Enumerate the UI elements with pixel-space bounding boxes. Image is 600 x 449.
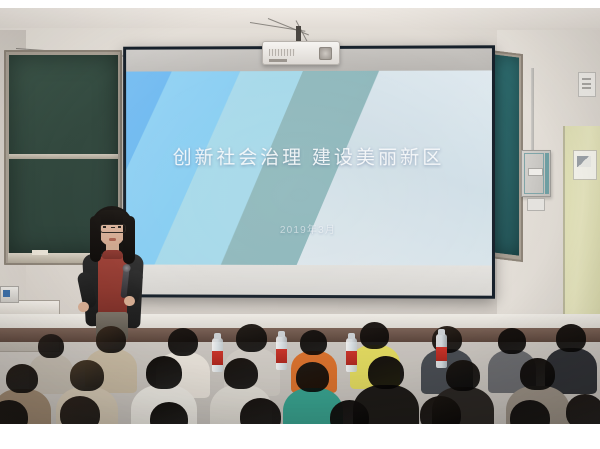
bottle-label xyxy=(212,351,223,365)
projector-vent xyxy=(269,49,295,56)
audience-member-head xyxy=(368,356,404,389)
audience-member-head xyxy=(96,326,126,353)
wall-notice-sign xyxy=(578,72,596,97)
ceiling-projector xyxy=(262,41,340,65)
bottle-cap xyxy=(438,329,445,335)
water-bottle xyxy=(276,336,287,370)
projector-lens-icon xyxy=(319,47,332,60)
presenter-hair-right xyxy=(123,216,135,264)
projector-label xyxy=(269,59,287,62)
chalkboard-divider xyxy=(9,154,118,159)
bottle-cap xyxy=(214,333,221,339)
audience-member-head xyxy=(38,334,64,358)
audience-member-head xyxy=(556,324,586,352)
water-bottle xyxy=(436,334,447,368)
audience-member-head xyxy=(146,356,182,389)
audience-member-head xyxy=(168,328,198,356)
bottle-label xyxy=(346,351,357,365)
presenter-mouth xyxy=(109,238,116,241)
projection-screen: 创新社会治理 建设美丽新区 2019年3月 xyxy=(123,45,495,298)
bottle-label xyxy=(436,347,447,361)
presenter-hair-left xyxy=(90,216,101,262)
audience-member-head xyxy=(360,322,389,349)
audience-member-head xyxy=(6,364,38,393)
audience-member-head xyxy=(240,398,281,424)
audience-member-head xyxy=(296,362,329,392)
audience-member-head xyxy=(566,394,600,424)
electrical-panel-box xyxy=(521,150,551,197)
water-bottle xyxy=(212,338,223,372)
electrical-conduit xyxy=(531,68,534,152)
audience-member-head xyxy=(300,330,327,355)
classroom-door[interactable] xyxy=(563,126,600,331)
screen-bottom-strip xyxy=(126,264,492,295)
lecture-photo: 创新社会治理 建设美丽新区 2019年3月 xyxy=(0,8,600,424)
audience xyxy=(0,308,600,424)
presenter-hand-right xyxy=(124,296,135,306)
bottle-cap xyxy=(348,333,355,339)
bottle-cap xyxy=(278,331,285,337)
presentation-slide: 创新社会治理 建设美丽新区 2019年3月 xyxy=(126,70,492,265)
door-poster xyxy=(573,150,597,180)
audience-member-head xyxy=(520,358,555,390)
presenter-collar xyxy=(102,250,123,259)
bottle-label xyxy=(276,349,287,363)
presenter-eye-right xyxy=(118,226,121,228)
wall-outlet xyxy=(527,198,545,211)
presenter-eye-left xyxy=(103,226,106,228)
water-bottle xyxy=(346,338,357,372)
audience-member-head xyxy=(498,328,526,354)
photo-bottom-margin xyxy=(0,424,600,449)
eraser xyxy=(32,250,48,255)
audience-member-head xyxy=(224,358,258,389)
screenshot-root: 创新社会治理 建设美丽新区 2019年3月 xyxy=(0,0,600,449)
projection-screen-surface: 创新社会治理 建设美丽新区 2019年3月 xyxy=(126,48,492,295)
slide-title: 创新社会治理 建设美丽新区 xyxy=(126,143,492,170)
audience-member-head xyxy=(236,324,267,352)
podium-device xyxy=(0,286,19,303)
slide-date: 2019年3月 xyxy=(126,221,492,237)
photo-top-margin xyxy=(0,0,600,8)
panel-label xyxy=(528,168,543,176)
audience-member-head xyxy=(60,396,100,424)
audience-member-head xyxy=(446,360,480,391)
audience-member-head xyxy=(70,360,104,391)
chalkboard-right-surface xyxy=(493,54,519,255)
